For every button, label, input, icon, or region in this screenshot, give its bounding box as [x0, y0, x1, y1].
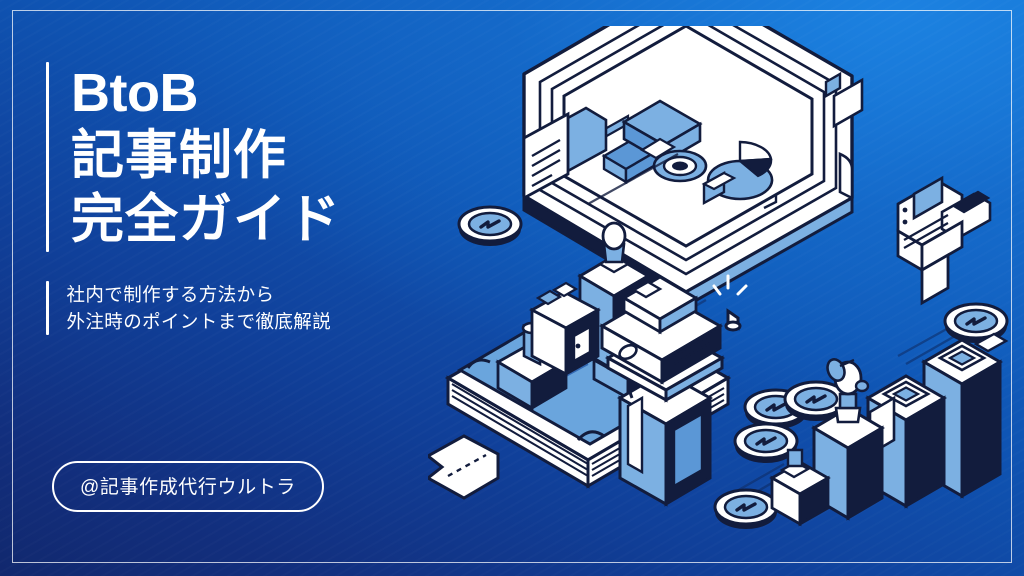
text-content-block: BtoB 記事制作 完全ガイド 社内で制作する方法から 外注時のポイントまで徹底…: [0, 0, 470, 576]
subtitle-group: 社内で制作する方法から 外注時のポイントまで徹底解説: [46, 281, 331, 335]
title-line-1: BtoB: [71, 62, 341, 124]
coin-icon: [715, 490, 777, 529]
floppy-disk-icon: [898, 178, 990, 303]
bar-chart-group: [772, 334, 1006, 524]
page-title: BtoB 記事制作 完全ガイド: [71, 62, 341, 252]
title-accent-rule: [46, 62, 49, 252]
page-subtitle: 社内で制作する方法から 外注時のポイントまで徹底解説: [67, 281, 332, 335]
title-group: BtoB 記事制作 完全ガイド: [46, 62, 341, 252]
subtitle-line-1: 社内で制作する方法から: [67, 281, 332, 308]
isometric-illustration: [428, 26, 1024, 546]
subtitle-line-2: 外注時のポイントまで徹底解説: [67, 308, 332, 335]
title-line-3: 完全ガイド: [71, 188, 341, 252]
title-line-2: 記事制作: [71, 124, 341, 188]
subtitle-accent-rule: [46, 281, 49, 335]
account-badge[interactable]: @記事作成代行ウルトラ: [52, 461, 324, 512]
monitor-screen-group: [524, 26, 852, 330]
slide-canvas: BtoB 記事制作 完全ガイド 社内で制作する方法から 外注時のポイントまで徹底…: [0, 0, 1024, 576]
